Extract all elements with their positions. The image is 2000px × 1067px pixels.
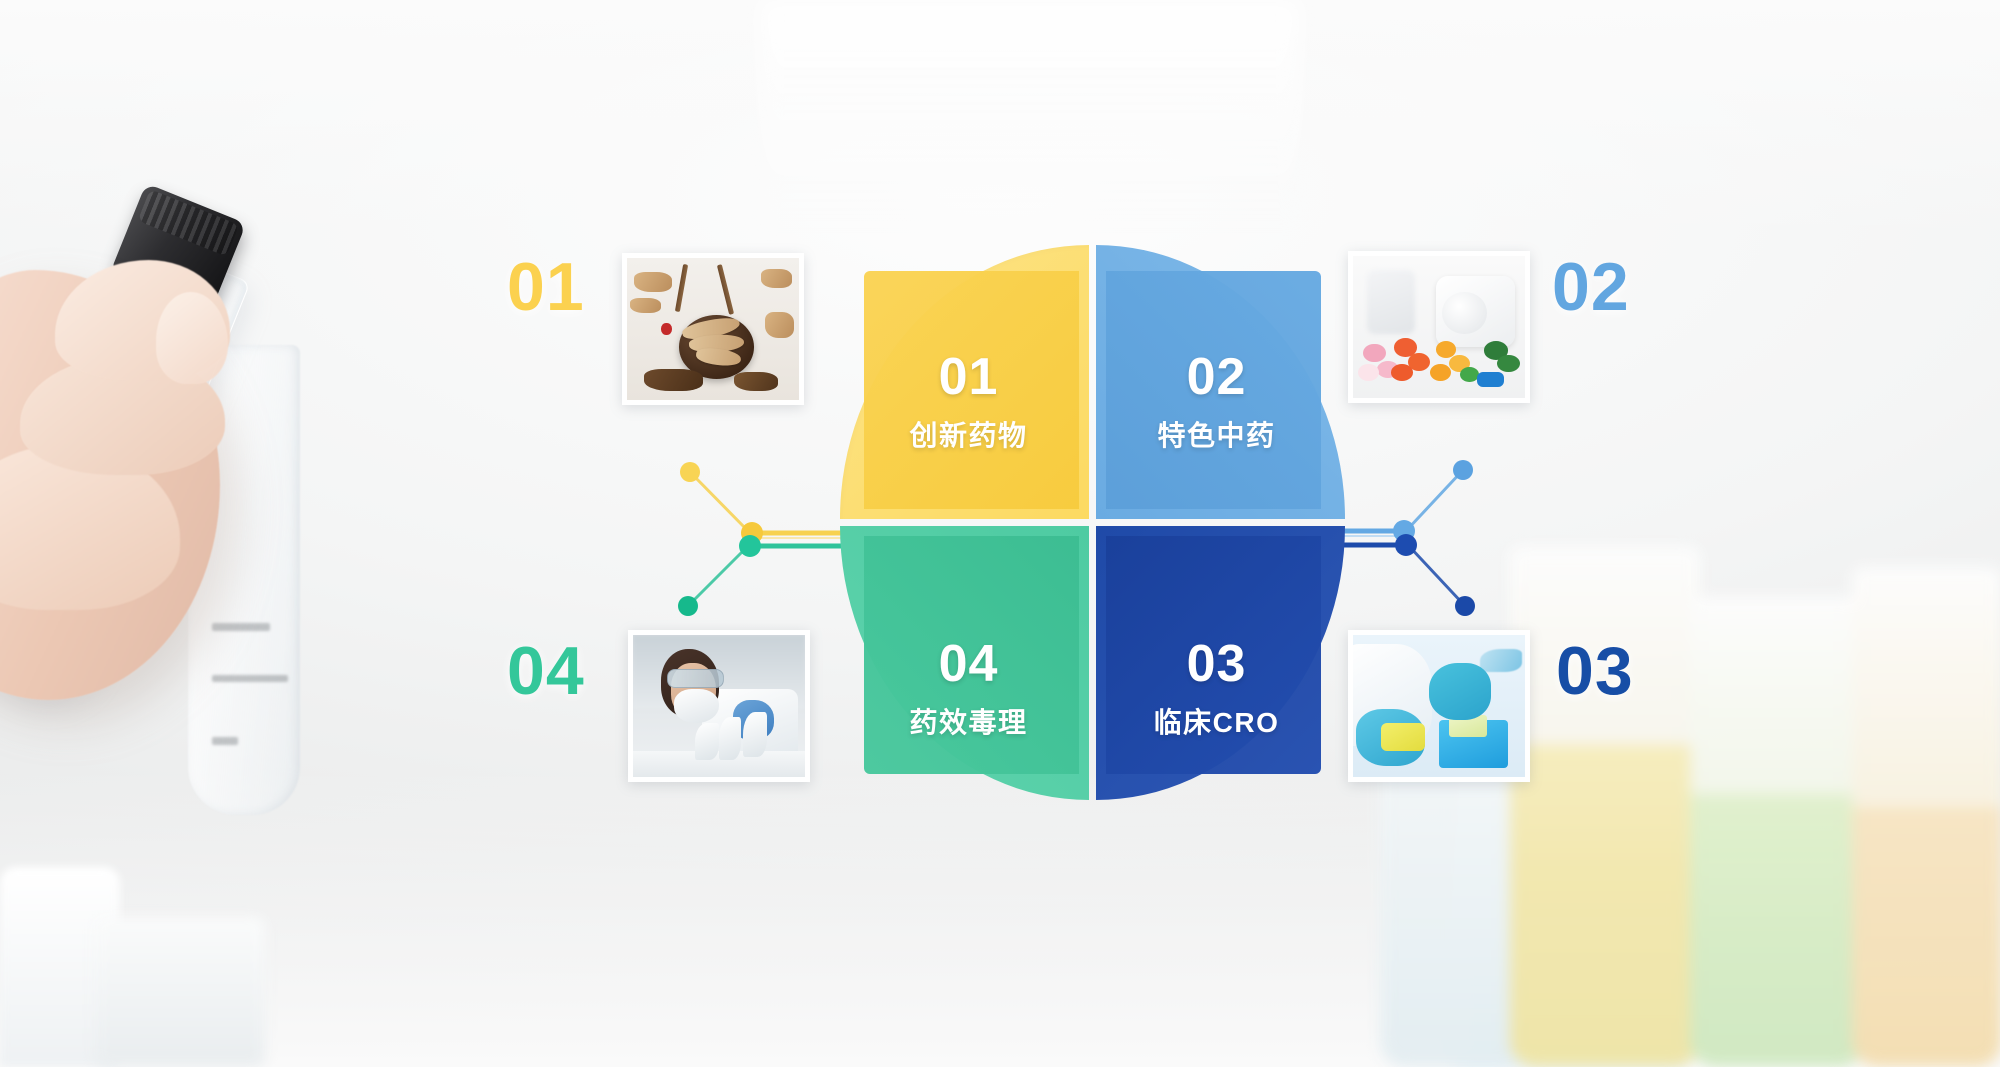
thumbnail-pills-image	[1353, 256, 1525, 398]
glass-liquid-amber	[1852, 807, 2000, 1067]
quadrant-01-number: 01	[870, 351, 1067, 403]
quadrant-02-tcm[interactable]: 02 特色中药	[1096, 245, 1345, 519]
quadrant-circle: 01 创新药物 02 特色中药 03 临床CRO 04	[840, 245, 1360, 815]
quadrant-02-label: 特色中药	[1118, 422, 1315, 450]
lab-hands-photo	[1353, 635, 1525, 777]
glass-cylinder-3	[1690, 597, 1865, 1067]
quadrant-01-label: 创新药物	[870, 422, 1067, 450]
thumbnail-card-herbs[interactable]	[622, 253, 804, 405]
quadrant-01-text: 01 创新药物	[870, 351, 1067, 450]
outer-number-01: 01	[507, 248, 585, 326]
glass-liquid-yellow	[1510, 745, 1700, 1067]
herbs-photo	[627, 258, 799, 400]
tube-graduation-1	[212, 623, 270, 631]
tube-graduation-2	[212, 675, 288, 682]
quadrant-03-number: 03	[1118, 638, 1315, 690]
tube-graduation-3	[212, 737, 238, 745]
thumbnail-lab-hands-image	[1353, 635, 1525, 777]
quadrant-02-number: 02	[1118, 351, 1315, 403]
quadrant-04-number: 04	[870, 638, 1067, 690]
outer-number-02: 02	[1552, 248, 1630, 326]
pills-photo	[1353, 256, 1525, 398]
thumbnail-card-pills[interactable]	[1348, 251, 1530, 403]
thumbnail-herbs-image	[627, 258, 799, 400]
quadrant-02-text: 02 特色中药	[1118, 351, 1315, 450]
quadrant-04-pharmacology-toxicology[interactable]: 04 药效毒理	[840, 526, 1089, 800]
quadrant-03-label: 临床CRO	[1118, 709, 1315, 737]
quadrant-04-label: 药效毒理	[870, 709, 1067, 737]
quadrant-03-clinical-cro[interactable]: 03 临床CRO	[1096, 526, 1345, 800]
outer-number-04: 04	[507, 632, 585, 710]
quadrant-01-creative-drugs[interactable]: 01 创新药物	[840, 245, 1089, 519]
glass-cylinder-4	[1852, 567, 2000, 1067]
infographic-stage: 01 创新药物 02 特色中药 03 临床CRO 04	[0, 0, 2000, 1067]
background-light-streak	[760, 0, 1300, 230]
outer-number-03: 03	[1556, 632, 1634, 710]
thumbnail-scientist-image	[633, 635, 805, 777]
scientist-photo	[633, 635, 805, 777]
background-jar-left-2	[95, 917, 265, 1067]
background-glassware-right	[1360, 507, 2000, 1067]
thumbnail-card-lab-hands[interactable]	[1348, 630, 1530, 782]
glass-liquid-green	[1690, 794, 1865, 1067]
quadrant-03-text: 03 临床CRO	[1118, 638, 1315, 737]
quadrant-04-text: 04 药效毒理	[870, 638, 1067, 737]
background-hand-with-tube	[0, 250, 520, 810]
thumbnail-card-scientist[interactable]	[628, 630, 810, 782]
glass-cylinder-2	[1510, 547, 1700, 1067]
